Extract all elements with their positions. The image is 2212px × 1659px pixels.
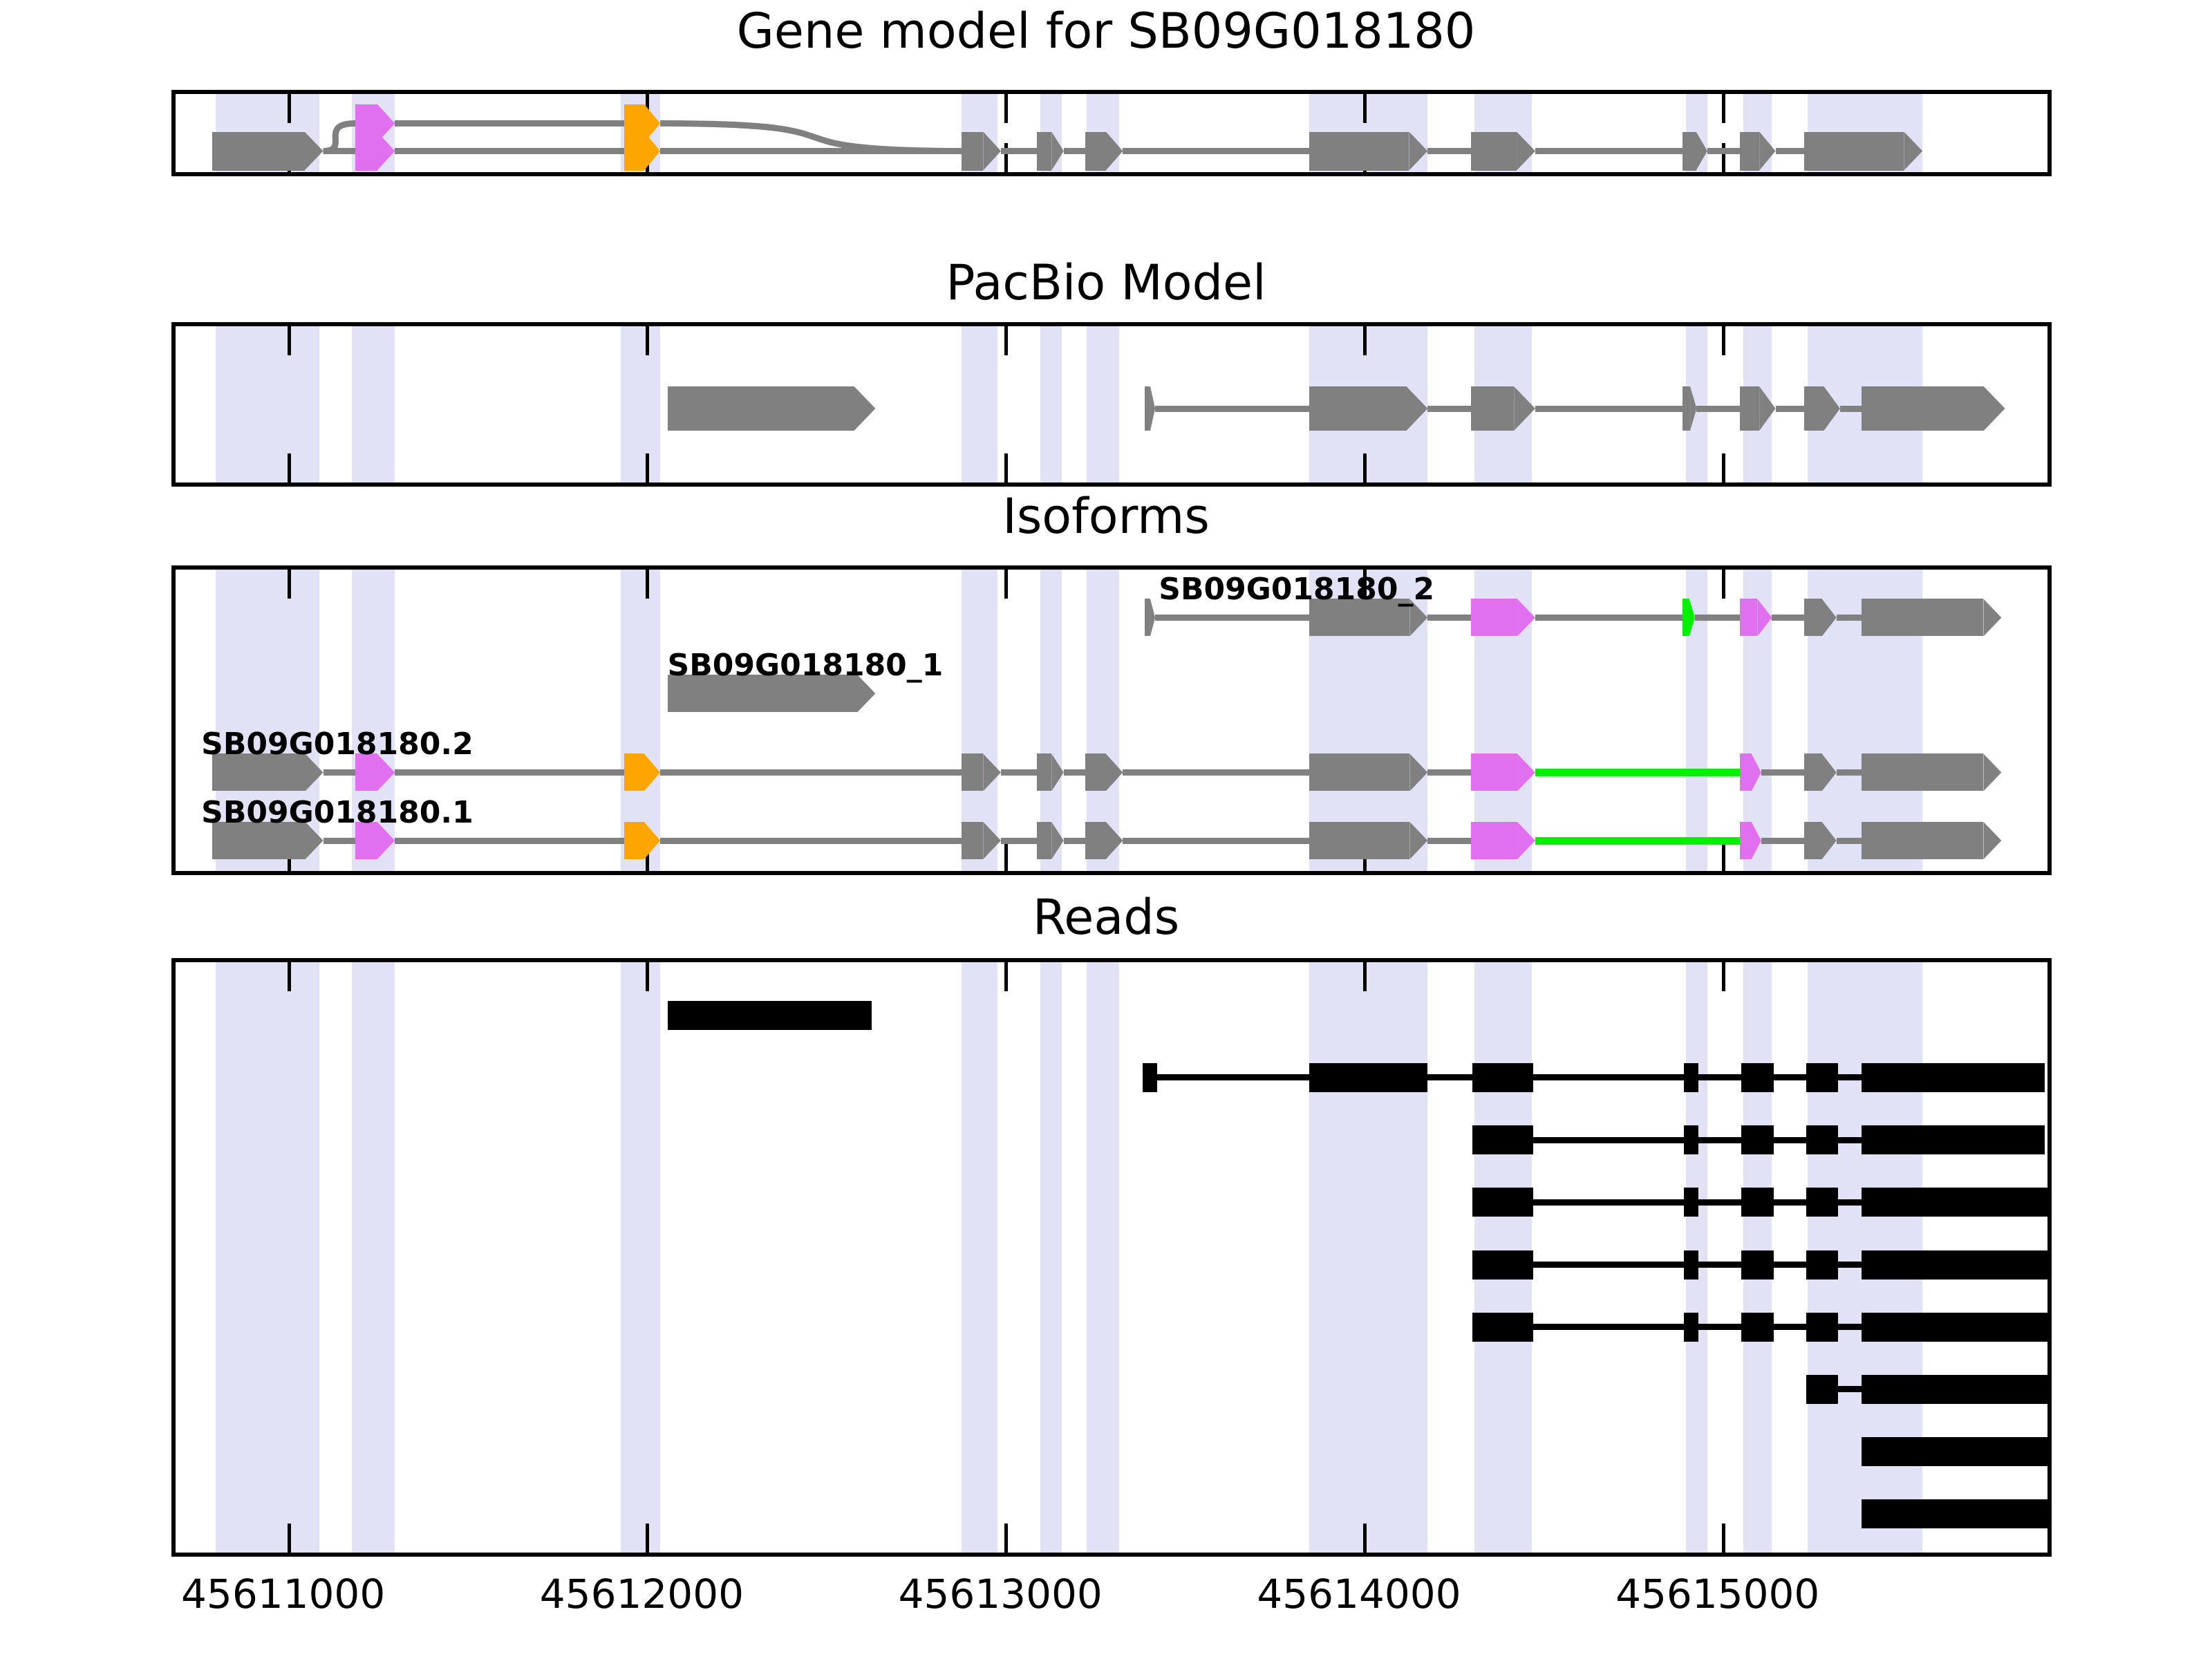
read-intron bbox=[1533, 1262, 1684, 1268]
panel-title-gene_model: Gene model for SB09G018180 bbox=[0, 6, 2212, 58]
exon-body bbox=[1804, 753, 1822, 791]
read-intron bbox=[1698, 1074, 1741, 1080]
exon bbox=[355, 132, 395, 171]
exon-body bbox=[1085, 822, 1106, 859]
exon-arrowhead bbox=[1150, 599, 1155, 636]
axis-tick bbox=[288, 326, 291, 355]
exon-arrowhead bbox=[1051, 132, 1064, 171]
exon bbox=[1471, 132, 1535, 171]
exon-arrowhead bbox=[1517, 599, 1535, 636]
read-exon-block bbox=[1806, 1375, 1839, 1404]
exon bbox=[212, 132, 324, 171]
exon bbox=[1085, 753, 1123, 791]
exon-body bbox=[1471, 599, 1517, 636]
intron bbox=[1707, 148, 1740, 154]
exon-body bbox=[1309, 386, 1406, 431]
intron bbox=[1064, 838, 1085, 844]
exon bbox=[1740, 386, 1776, 431]
exon bbox=[1309, 386, 1427, 431]
exon-body bbox=[1804, 822, 1822, 859]
axis-tick bbox=[1363, 453, 1367, 482]
read-intron bbox=[1774, 1262, 1806, 1268]
axis-tick bbox=[1722, 1524, 1725, 1553]
read-intron bbox=[1698, 1324, 1741, 1330]
axis-tick bbox=[1363, 1524, 1367, 1553]
axis-tick bbox=[1004, 326, 1008, 355]
highlight-band bbox=[216, 326, 319, 482]
axis-tick bbox=[1722, 842, 1725, 871]
exon bbox=[1085, 132, 1123, 171]
read-intron bbox=[1533, 1074, 1684, 1080]
exon-arrowhead bbox=[1696, 132, 1707, 171]
read-exon-block bbox=[1862, 1499, 2052, 1528]
exon-arrowhead bbox=[1051, 753, 1064, 791]
read-intron bbox=[1533, 1324, 1684, 1330]
genome-browser-figure: Gene model for SB09G018180PacBio ModelIs… bbox=[0, 0, 2212, 1659]
intron bbox=[1776, 406, 1805, 412]
exon-arrowhead bbox=[1150, 386, 1155, 431]
axis-tick bbox=[1004, 570, 1008, 599]
exon bbox=[1804, 599, 1837, 636]
exon-body bbox=[1740, 386, 1760, 431]
exon-body bbox=[962, 132, 983, 171]
exon bbox=[624, 753, 660, 791]
panel-title-reads: Reads bbox=[0, 892, 2212, 944]
read-exon-block bbox=[1684, 1188, 1698, 1217]
highlight-band bbox=[1040, 326, 1062, 482]
isoform-label: SB09G018180.1 bbox=[201, 795, 474, 830]
intron bbox=[1001, 148, 1037, 154]
read-intron bbox=[1838, 1262, 1862, 1268]
axis-tick bbox=[1004, 1524, 1008, 1553]
exon-arrowhead bbox=[644, 822, 660, 859]
read-exon-block bbox=[1741, 1125, 1774, 1154]
axis-tick bbox=[646, 570, 649, 599]
intron bbox=[1696, 406, 1739, 412]
exon-arrowhead bbox=[1407, 386, 1428, 431]
highlight-band bbox=[1087, 962, 1119, 1553]
exon-arrowhead bbox=[1904, 132, 1922, 171]
exon bbox=[1862, 753, 2001, 791]
axis-tick-label: 45614000 bbox=[1179, 1571, 1539, 1618]
intron-green bbox=[1535, 769, 1740, 776]
read-exon-block bbox=[1684, 1313, 1698, 1342]
exon-arrowhead bbox=[1409, 132, 1427, 171]
intron bbox=[1155, 615, 1309, 621]
read-intron bbox=[1774, 1137, 1806, 1143]
exon-body bbox=[624, 822, 644, 859]
read-intron bbox=[1774, 1324, 1806, 1330]
read-intron bbox=[1533, 1199, 1684, 1206]
exon-body bbox=[1145, 386, 1151, 431]
read-intron bbox=[1533, 1137, 1684, 1143]
track-pacbio bbox=[171, 322, 2052, 487]
exon bbox=[1740, 753, 1761, 791]
exon bbox=[1683, 386, 1697, 431]
exon-arrowhead bbox=[854, 386, 876, 431]
read-exon-block bbox=[1741, 1313, 1774, 1342]
read-exon-block bbox=[1472, 1250, 1533, 1280]
axis-tick-label: 45615000 bbox=[1538, 1571, 1897, 1618]
exon-arrowhead bbox=[1983, 599, 2001, 636]
intron bbox=[1772, 615, 1804, 621]
read-intron bbox=[1427, 1074, 1472, 1080]
intron bbox=[1837, 615, 1862, 621]
exon-arrowhead bbox=[1106, 132, 1123, 171]
exon bbox=[1037, 753, 1064, 791]
exon bbox=[1471, 822, 1535, 859]
exon bbox=[668, 386, 876, 431]
read-exon-block bbox=[1741, 1188, 1774, 1217]
exon-arrowhead bbox=[983, 132, 1001, 171]
exon-arrowhead bbox=[1752, 753, 1761, 791]
exon bbox=[1683, 132, 1707, 171]
read-exon-block bbox=[1472, 1063, 1533, 1092]
exon-body bbox=[1683, 386, 1690, 431]
axis-tick-label: 45613000 bbox=[821, 1571, 1180, 1618]
track-gene_model bbox=[171, 90, 2052, 176]
intron bbox=[1837, 769, 1862, 776]
intron bbox=[1064, 148, 1085, 154]
read-intron bbox=[1838, 1074, 1862, 1080]
exon-body bbox=[1862, 822, 1983, 859]
track-isoforms: SB09G018180_2SB09G018180_1SB09G018180.2S… bbox=[171, 565, 2052, 875]
exon-body bbox=[1740, 753, 1752, 791]
intron bbox=[1761, 838, 1804, 844]
intron bbox=[660, 148, 962, 154]
exon-body bbox=[212, 132, 305, 171]
exon-arrowhead bbox=[1983, 822, 2001, 859]
exon bbox=[1037, 132, 1064, 171]
intron bbox=[1427, 406, 1470, 412]
exon-arrowhead bbox=[1517, 753, 1535, 791]
intron bbox=[1840, 406, 1862, 412]
highlight-band bbox=[1040, 962, 1062, 1553]
exon-arrowhead bbox=[983, 753, 1001, 791]
axis-tick bbox=[646, 326, 649, 355]
read-intron bbox=[1838, 1324, 1862, 1330]
read-exon-block bbox=[1741, 1063, 1774, 1092]
axis-tick-label: 45611000 bbox=[104, 1571, 463, 1618]
exon-arrowhead bbox=[1822, 753, 1837, 791]
exon bbox=[1309, 753, 1427, 791]
exon-body bbox=[1037, 132, 1051, 171]
intron bbox=[660, 838, 962, 844]
axis-tick bbox=[1004, 842, 1008, 871]
read-exon-block bbox=[1806, 1250, 1839, 1280]
highlight-band bbox=[352, 326, 395, 482]
exon-body bbox=[1309, 132, 1409, 171]
intron bbox=[1001, 838, 1037, 844]
exon-arrowhead bbox=[1752, 822, 1761, 859]
exon bbox=[1471, 599, 1535, 636]
read-exon-block bbox=[1862, 1250, 2052, 1280]
exon-body bbox=[1683, 132, 1696, 171]
exon-body bbox=[1740, 822, 1752, 859]
axis-tick bbox=[1004, 962, 1008, 991]
exon-body bbox=[1804, 386, 1824, 431]
read-exon-block bbox=[1741, 1250, 1774, 1280]
exon bbox=[1804, 386, 1840, 431]
exon-arrowhead bbox=[983, 822, 1001, 859]
intron bbox=[1535, 148, 1683, 154]
exon-arrowhead bbox=[644, 753, 660, 791]
intron bbox=[1001, 769, 1037, 776]
exon-body bbox=[1085, 132, 1106, 171]
highlight-band bbox=[352, 962, 395, 1553]
read-exon-block bbox=[1862, 1313, 2052, 1342]
track-reads bbox=[171, 958, 2052, 1557]
exon-body bbox=[1471, 386, 1515, 431]
axis-tick bbox=[1004, 453, 1008, 482]
intron bbox=[1123, 148, 1309, 154]
exon bbox=[1740, 822, 1761, 859]
intron bbox=[1427, 615, 1470, 621]
exon bbox=[1145, 599, 1156, 636]
axis-tick bbox=[646, 453, 649, 482]
read-exon-block bbox=[1862, 1375, 2052, 1404]
exon-body bbox=[1309, 822, 1409, 859]
read-exon-block bbox=[1684, 1250, 1698, 1280]
intron-green bbox=[1535, 837, 1740, 845]
panel-title-isoforms: Isoforms bbox=[0, 491, 2212, 543]
axis-tick bbox=[288, 962, 291, 991]
exon-arrowhead bbox=[1689, 599, 1695, 636]
intron bbox=[1427, 148, 1470, 154]
exon-arrowhead bbox=[1409, 753, 1427, 791]
read-intron bbox=[1157, 1074, 1309, 1080]
intron bbox=[324, 769, 356, 776]
exon bbox=[1471, 753, 1535, 791]
exon bbox=[1740, 599, 1772, 636]
highlight-band bbox=[1309, 962, 1427, 1553]
exon-body bbox=[1037, 753, 1051, 791]
exon bbox=[1740, 132, 1776, 171]
axis-tick bbox=[646, 962, 649, 991]
exon-arrowhead bbox=[1824, 386, 1840, 431]
axis-tick bbox=[1722, 94, 1725, 123]
intron bbox=[395, 148, 624, 154]
highlight-band bbox=[216, 962, 319, 1553]
isoform-label: SB09G018180.2 bbox=[201, 727, 474, 762]
read-exon-block bbox=[1472, 1125, 1533, 1154]
exon-arrowhead bbox=[1690, 386, 1696, 431]
exon-body bbox=[962, 753, 983, 791]
intron bbox=[1535, 406, 1683, 412]
intron bbox=[1535, 615, 1683, 621]
exon-arrowhead bbox=[1759, 132, 1775, 171]
intron bbox=[1695, 615, 1740, 621]
exon-arrowhead bbox=[1051, 822, 1064, 859]
exon-body bbox=[1862, 386, 1984, 431]
exon-body bbox=[1085, 753, 1106, 791]
intron bbox=[1427, 769, 1470, 776]
highlight-band bbox=[621, 326, 660, 482]
exon-arrowhead bbox=[305, 132, 324, 171]
read-exon-block bbox=[1806, 1125, 1839, 1154]
exon bbox=[1862, 386, 2005, 431]
read-exon-block bbox=[1862, 1188, 2052, 1217]
highlight-band bbox=[1087, 326, 1119, 482]
exon-arrowhead bbox=[1409, 822, 1427, 859]
exon-arrowhead bbox=[1517, 822, 1535, 859]
axis-tick bbox=[1722, 570, 1725, 599]
exon bbox=[1683, 599, 1695, 636]
exon-arrowhead bbox=[1822, 599, 1837, 636]
read-exon-block bbox=[668, 1001, 872, 1030]
read-exon-block bbox=[1309, 1063, 1427, 1092]
axis-tick bbox=[1722, 453, 1725, 482]
read-intron bbox=[1774, 1074, 1806, 1080]
exon-body bbox=[624, 132, 644, 171]
intron bbox=[1776, 148, 1805, 154]
exon-body bbox=[355, 132, 377, 171]
exon bbox=[1804, 132, 1922, 171]
exon bbox=[1804, 753, 1837, 791]
axis-tick bbox=[1004, 94, 1008, 123]
exon bbox=[1085, 822, 1123, 859]
read-exon-block bbox=[1143, 1063, 1157, 1092]
exon-body bbox=[1683, 599, 1689, 636]
exon-body bbox=[1804, 132, 1904, 171]
axis-tick bbox=[1722, 962, 1725, 991]
axis-tick bbox=[1363, 962, 1367, 991]
exon bbox=[962, 132, 1001, 171]
read-intron bbox=[1698, 1199, 1741, 1206]
axis-tick bbox=[1722, 326, 1725, 355]
exon bbox=[962, 753, 1001, 791]
exon bbox=[1862, 599, 2001, 636]
exon-arrowhead bbox=[1983, 753, 2001, 791]
axis-tick bbox=[1363, 94, 1367, 123]
exon bbox=[624, 822, 660, 859]
intron bbox=[324, 838, 356, 844]
exon-arrowhead bbox=[1106, 822, 1123, 859]
exon bbox=[624, 132, 660, 171]
read-intron bbox=[1698, 1262, 1741, 1268]
intron bbox=[1123, 769, 1309, 776]
exon-arrowhead bbox=[1106, 753, 1123, 791]
exon bbox=[1309, 132, 1427, 171]
exon-body bbox=[1309, 753, 1409, 791]
exon-body bbox=[962, 822, 983, 859]
axis-tick bbox=[288, 94, 291, 123]
exon-body bbox=[1471, 753, 1517, 791]
exon-arrowhead bbox=[1822, 822, 1837, 859]
exon bbox=[1309, 822, 1427, 859]
read-intron bbox=[1838, 1386, 1862, 1392]
read-exon-block bbox=[1862, 1125, 2045, 1154]
read-exon-block bbox=[1862, 1063, 2045, 1092]
exon-body bbox=[1804, 599, 1822, 636]
read-intron bbox=[1698, 1137, 1741, 1143]
axis-tick bbox=[288, 570, 291, 599]
exon bbox=[1471, 386, 1535, 431]
read-exon-block bbox=[1684, 1125, 1698, 1154]
intron bbox=[395, 120, 624, 126]
highlight-band bbox=[962, 326, 997, 482]
highlight-band bbox=[621, 962, 660, 1553]
exon-arrowhead bbox=[1514, 386, 1535, 431]
read-intron bbox=[1838, 1137, 1862, 1143]
axis-tick bbox=[1363, 326, 1367, 355]
axis-tick bbox=[646, 1524, 649, 1553]
panel-title-pacbio: PacBio Model bbox=[0, 257, 2212, 310]
exon-body bbox=[1145, 599, 1151, 636]
read-exon-block bbox=[1806, 1063, 1839, 1092]
exon-body bbox=[1740, 132, 1760, 171]
read-exon-block bbox=[1862, 1437, 2052, 1466]
intron bbox=[395, 769, 624, 776]
intron bbox=[1123, 838, 1309, 844]
read-exon-block bbox=[1472, 1313, 1533, 1342]
exon-body bbox=[1471, 822, 1517, 859]
exon bbox=[1862, 822, 2001, 859]
read-exon-block bbox=[1806, 1313, 1839, 1342]
exon-arrowhead bbox=[1984, 386, 2005, 431]
read-exon-block bbox=[1472, 1188, 1533, 1217]
exon-body bbox=[1037, 822, 1051, 859]
exon bbox=[1037, 822, 1064, 859]
read-intron bbox=[1774, 1199, 1806, 1206]
exon-arrowhead bbox=[377, 132, 395, 171]
exon-arrowhead bbox=[1757, 599, 1772, 636]
exon-arrowhead bbox=[644, 132, 660, 171]
read-intron bbox=[1838, 1199, 1862, 1206]
isoform-label: SB09G018180_1 bbox=[668, 648, 944, 683]
intron bbox=[1155, 406, 1309, 412]
exon-arrowhead bbox=[1517, 132, 1535, 171]
highlight-band bbox=[962, 962, 997, 1553]
read-exon-block bbox=[1806, 1188, 1839, 1217]
exon-body bbox=[1471, 132, 1517, 171]
isoform-label: SB09G018180_2 bbox=[1159, 572, 1434, 607]
read-exon-block bbox=[1684, 1063, 1698, 1092]
exon bbox=[1804, 822, 1837, 859]
intron bbox=[1837, 838, 1862, 844]
intron bbox=[660, 769, 962, 776]
exon-arrowhead bbox=[1759, 386, 1775, 431]
intron bbox=[324, 148, 356, 154]
intron bbox=[395, 838, 624, 844]
intron bbox=[1427, 838, 1470, 844]
exon bbox=[1145, 386, 1156, 431]
axis-tick bbox=[288, 1524, 291, 1553]
exon-body bbox=[1740, 599, 1758, 636]
exon-body bbox=[1862, 599, 1983, 636]
intron bbox=[1064, 769, 1085, 776]
intron bbox=[1761, 769, 1804, 776]
exon-body bbox=[624, 753, 644, 791]
exon-body bbox=[668, 386, 854, 431]
axis-tick-label: 45612000 bbox=[462, 1571, 821, 1618]
axis-tick bbox=[288, 453, 291, 482]
exon-body bbox=[1862, 753, 1983, 791]
exon bbox=[962, 822, 1001, 859]
